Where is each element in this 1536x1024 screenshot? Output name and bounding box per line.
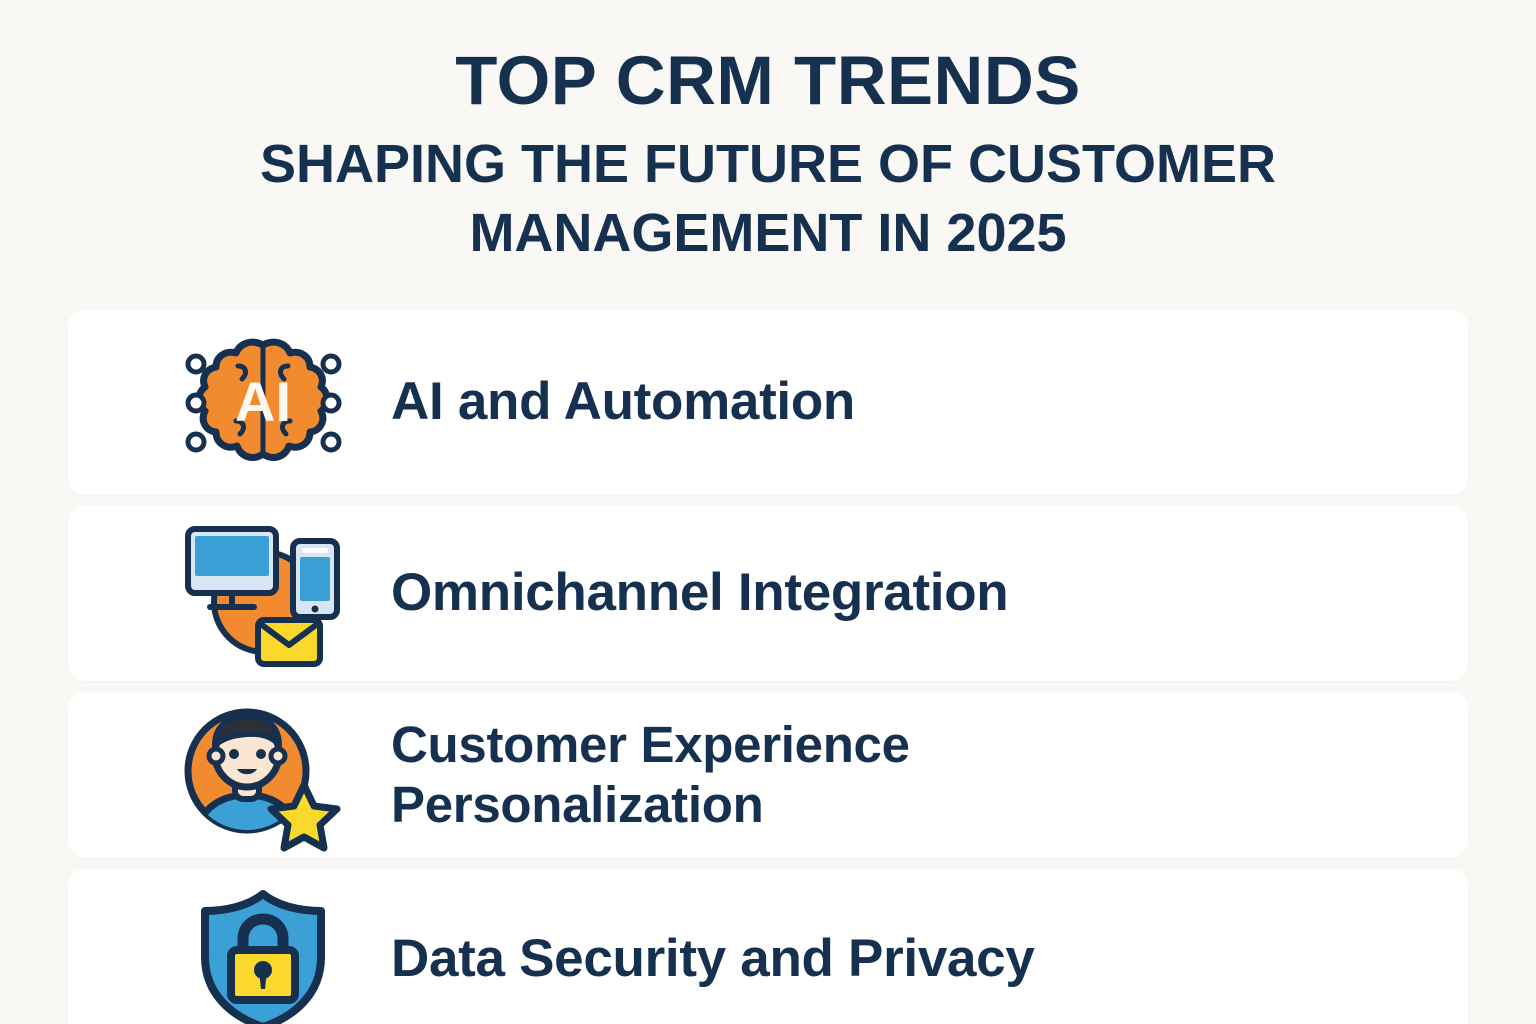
shield-lock-icon <box>173 887 353 1024</box>
trend-label: Customer Experience Personalization <box>391 715 1111 835</box>
customer-star-icon <box>173 703 353 848</box>
trend-card-omnichannel[interactable]: Omnichannel Integration <box>68 506 1468 681</box>
omnichannel-devices-icon <box>173 519 353 669</box>
trend-card-personalization[interactable]: Customer Experience Personalization <box>68 692 1468 858</box>
page-title: TOP CRM TRENDS <box>0 46 1536 116</box>
trend-label: Data Security and Privacy <box>391 928 1035 991</box>
trend-label: AI and Automation <box>391 371 855 434</box>
trend-card-ai-automation[interactable]: AI AI and Automation <box>68 310 1468 495</box>
trend-card-list: AI AI and Automation <box>68 310 1468 1024</box>
ai-brain-icon: AI <box>173 333 353 473</box>
infographic-header: TOP CRM TRENDS SHAPING THE FUTURE OF CUS… <box>0 0 1536 269</box>
trend-label: Omnichannel Integration <box>391 562 1008 625</box>
trend-card-data-security[interactable]: Data Security and Privacy <box>68 869 1468 1024</box>
svg-text:AI: AI <box>235 370 291 433</box>
page-subtitle: SHAPING THE FUTURE OF CUSTOMER MANAGEMEN… <box>0 130 1536 268</box>
